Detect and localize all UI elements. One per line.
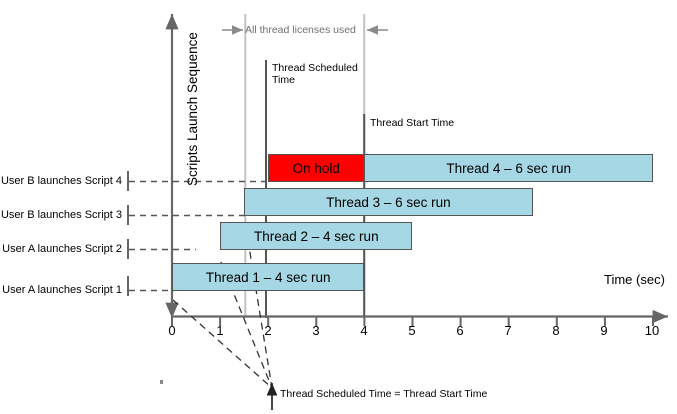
- x-tick-6: 6: [450, 323, 470, 338]
- x-tick-8: 8: [546, 323, 566, 338]
- bar-thread-4[interactable]: Thread 4 – 6 sec run: [364, 154, 653, 182]
- x-tick-10: 10: [642, 323, 662, 338]
- bar-thread-2[interactable]: Thread 2 – 4 sec run: [220, 222, 412, 250]
- x-tick-4: 4: [354, 323, 374, 338]
- x-tick-7: 7: [498, 323, 518, 338]
- x-tick-1: 1: [210, 323, 230, 338]
- annotation-all-thread-licenses-used: All thread licenses used: [245, 24, 356, 36]
- y-axis-title: Scripts Launch Sequence: [185, 32, 200, 186]
- annotation-thread-start-time: Thread Start Time: [370, 117, 454, 129]
- x-tick-9: 9: [594, 323, 614, 338]
- x-tick-2: 2: [258, 323, 278, 338]
- row-label-script-4: User B launches Script 4: [0, 175, 122, 187]
- stray-mark: [160, 380, 163, 384]
- annotation-thread-scheduled-time-line1: Thread Scheduled: [272, 62, 358, 74]
- annotation-thread-scheduled-time-line2: Time: [272, 74, 295, 86]
- bar-thread-3[interactable]: Thread 3 – 6 sec run: [244, 188, 533, 216]
- gantt-chart-figure: Scripts Launch Sequence Time (sec) 0 1 2…: [0, 0, 677, 414]
- bar-on-hold[interactable]: On hold: [268, 154, 364, 182]
- x-tick-0: 0: [162, 323, 182, 338]
- x-tick-3: 3: [306, 323, 326, 338]
- row-label-script-2: User A launches Script 2: [0, 243, 122, 255]
- converging-dashed-lines: [173, 228, 272, 388]
- x-tick-5: 5: [402, 323, 422, 338]
- x-axis-title: Time (sec): [604, 272, 665, 287]
- row-label-script-3: User B launches Script 3: [0, 209, 122, 221]
- annotation-scheduled-equals-start: Thread Scheduled Time = Thread Start Tim…: [280, 388, 487, 400]
- row-label-script-1: User A launches Script 1: [0, 284, 122, 296]
- bar-thread-1[interactable]: Thread 1 – 4 sec run: [172, 263, 364, 291]
